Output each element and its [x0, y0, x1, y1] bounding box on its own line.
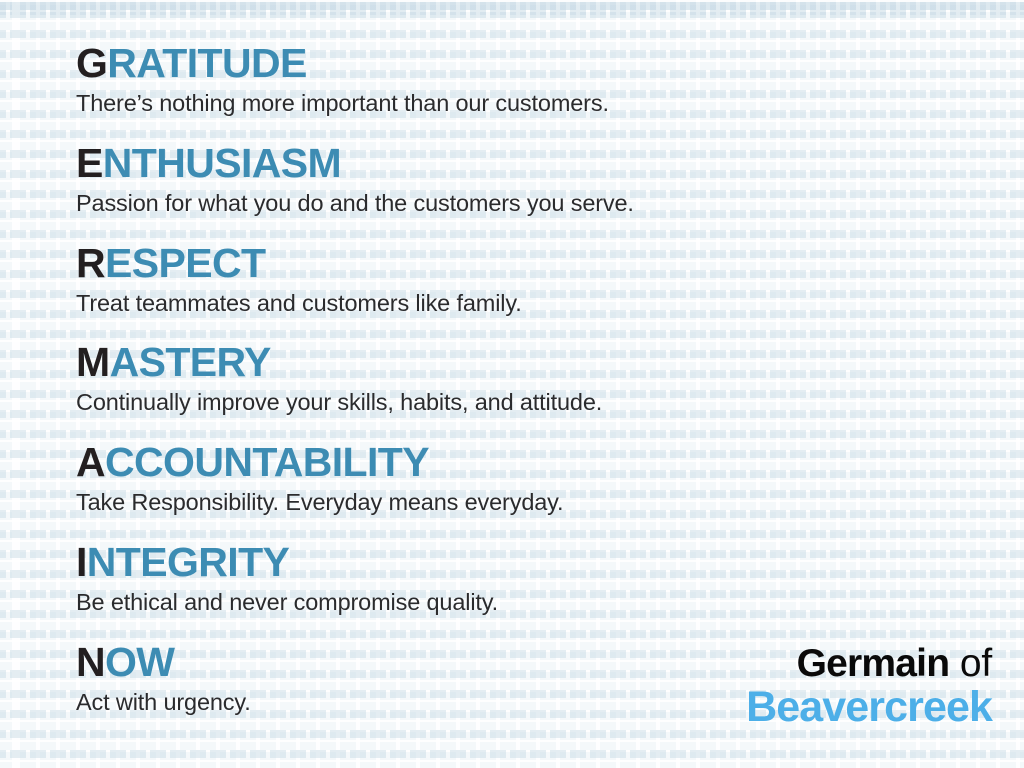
value-heading-accountability: ACCOUNTABILITY: [76, 439, 563, 485]
poster-content: GRATITUDE There’s nothing more important…: [0, 0, 1024, 768]
value-description-enthusiasm: Passion for what you do and the customer…: [76, 188, 634, 218]
value-entry-now: NOW Act with urgency.: [76, 639, 251, 717]
value-entry-integrity: INTEGRITY Be ethical and never compromis…: [76, 539, 498, 617]
logo-location-name: Beavercreek: [746, 684, 992, 730]
logo-primary-line: Germain of: [746, 643, 992, 684]
value-initial-letter: N: [76, 639, 105, 685]
value-initial-letter: R: [76, 240, 105, 286]
value-description-mastery: Continually improve your skills, habits,…: [76, 387, 602, 417]
value-entry-gratitude: GRATITUDE There’s nothing more important…: [76, 40, 609, 118]
value-remainder-text: CCOUNTABILITY: [105, 439, 429, 485]
value-entry-accountability: ACCOUNTABILITY Take Responsibility. Ever…: [76, 439, 563, 517]
value-remainder-text: NTHUSIASM: [103, 140, 341, 186]
value-description-now: Act with urgency.: [76, 687, 251, 717]
value-remainder-text: ESPECT: [105, 240, 265, 286]
value-remainder-text: RATITUDE: [107, 40, 306, 86]
value-initial-letter: G: [76, 40, 107, 86]
value-description-integrity: Be ethical and never compromise quality.: [76, 587, 498, 617]
dealership-logo: Germain of Beavercreek: [746, 643, 992, 730]
value-initial-letter: M: [76, 339, 110, 385]
value-heading-enthusiasm: ENTHUSIASM: [76, 140, 634, 186]
value-description-accountability: Take Responsibility. Everyday means ever…: [76, 487, 563, 517]
value-entry-enthusiasm: ENTHUSIASM Passion for what you do and t…: [76, 140, 634, 218]
value-remainder-text: ASTERY: [110, 339, 271, 385]
logo-connector-word: of: [949, 642, 992, 685]
value-entry-respect: RESPECT Treat teammates and customers li…: [76, 240, 522, 318]
core-values-poster: GRATITUDE There’s nothing more important…: [0, 0, 1024, 768]
value-initial-letter: A: [76, 439, 105, 485]
value-entry-mastery: MASTERY Continually improve your skills,…: [76, 339, 602, 417]
value-description-gratitude: There’s nothing more important than our …: [76, 88, 609, 118]
value-heading-gratitude: GRATITUDE: [76, 40, 609, 86]
value-heading-integrity: INTEGRITY: [76, 539, 498, 585]
value-heading-respect: RESPECT: [76, 240, 522, 286]
value-remainder-text: OW: [105, 639, 174, 685]
value-description-respect: Treat teammates and customers like famil…: [76, 288, 522, 318]
value-initial-letter: E: [76, 140, 103, 186]
value-initial-letter: I: [76, 539, 87, 585]
value-heading-mastery: MASTERY: [76, 339, 602, 385]
logo-brand-name: Germain: [797, 642, 950, 685]
value-remainder-text: NTEGRITY: [87, 539, 289, 585]
value-heading-now: NOW: [76, 639, 251, 685]
